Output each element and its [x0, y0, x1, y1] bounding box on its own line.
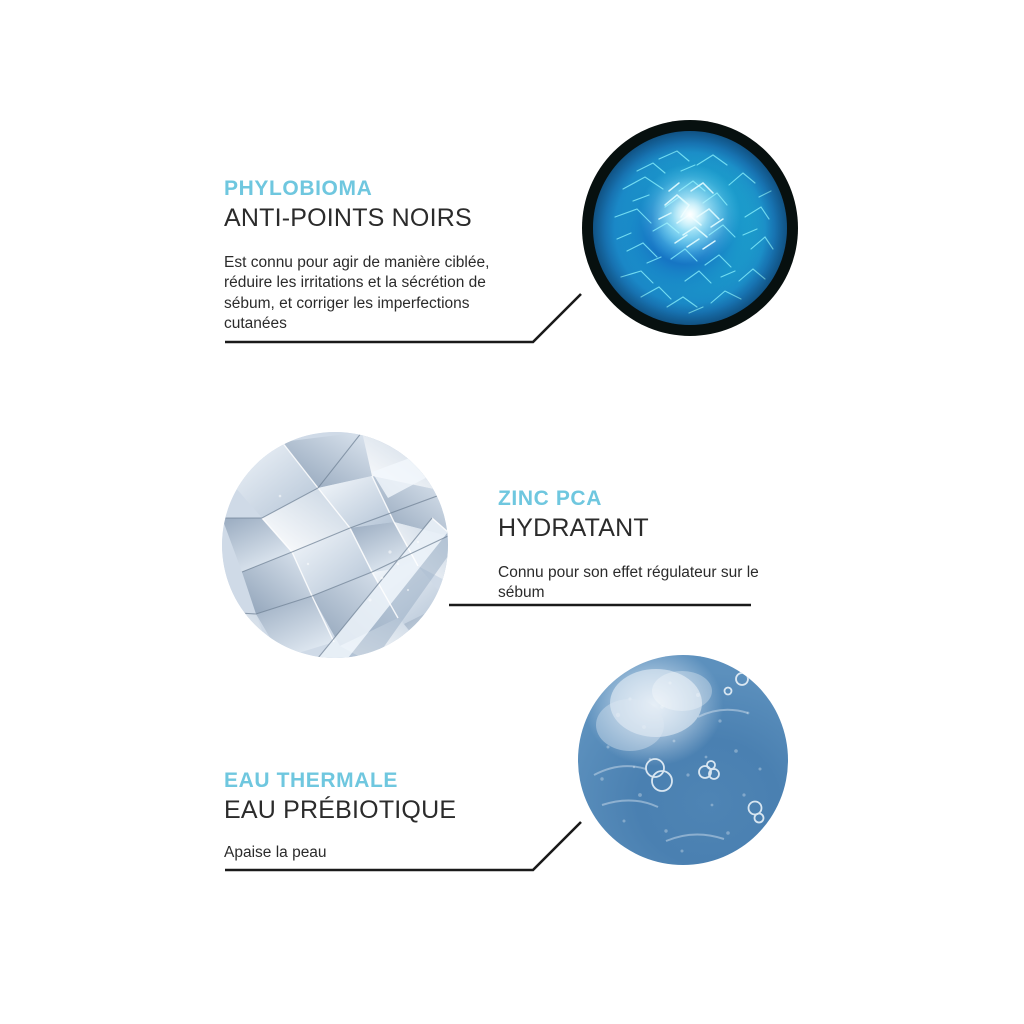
zinc-crystal-swatch: [222, 432, 448, 658]
ingredients-infographic: PHYLOBIOMA ANTI-POINTS NOIRS Est connu p…: [0, 0, 1024, 1024]
ingredient-eyebrow: PHYLOBIOMA: [224, 178, 554, 199]
thermal-water-swatch: [578, 655, 788, 865]
ingredient-block-zinc-pca: ZINC PCA HYDRATANT Connu pour son effet …: [498, 488, 798, 604]
crystal-texture: [222, 432, 448, 658]
microbiome-glow-swatch: [582, 120, 798, 336]
swatch-vignette: [593, 131, 787, 325]
ingredient-description: Est connu pour agir de manière ciblée, r…: [224, 253, 516, 334]
ingredient-headline: ANTI-POINTS NOIRS: [224, 205, 554, 231]
ingredient-eyebrow: EAU THERMALE: [224, 770, 554, 791]
ingredient-block-phylobioma: PHYLOBIOMA ANTI-POINTS NOIRS Est connu p…: [224, 178, 554, 334]
ingredient-headline: EAU PRÉBIOTIQUE: [224, 797, 554, 823]
ingredient-headline: HYDRATANT: [498, 515, 798, 541]
ingredient-description: Connu pour son effet régulateur sur le s…: [498, 563, 768, 603]
ingredient-block-eau-thermale: EAU THERMALE EAU PRÉBIOTIQUE Apaise la p…: [224, 770, 554, 863]
water-bubble-texture: [578, 655, 788, 865]
ingredient-eyebrow: ZINC PCA: [498, 488, 798, 509]
ingredient-description: Apaise la peau: [224, 843, 524, 863]
